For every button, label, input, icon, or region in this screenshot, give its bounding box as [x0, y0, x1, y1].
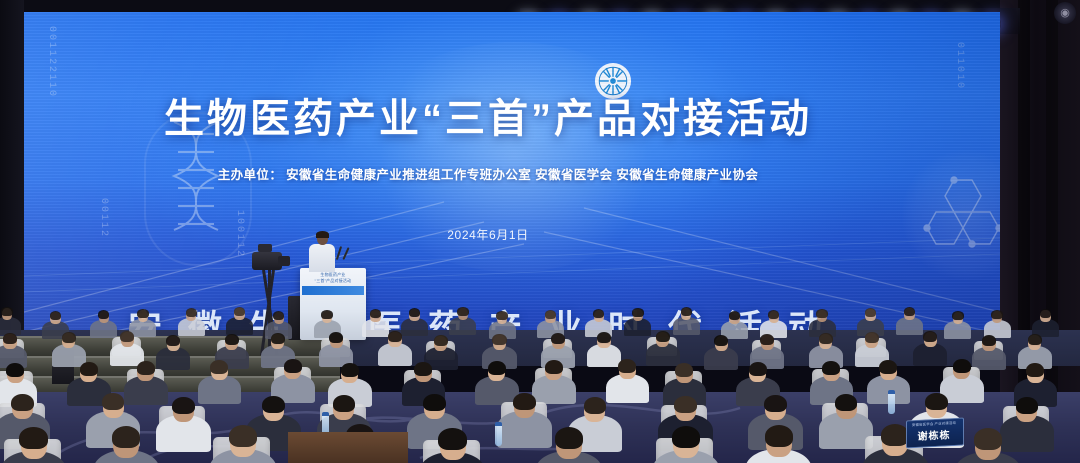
audience-member-hair: [982, 335, 996, 346]
speaker-hair: [316, 231, 329, 238]
audience-member-hair: [729, 311, 740, 320]
audience-member-hair: [551, 333, 565, 344]
audience-member-hair: [513, 393, 536, 411]
audience-member-hair: [545, 310, 556, 319]
audience-member-hair: [6, 363, 24, 377]
audience-member-hair: [991, 310, 1002, 319]
audience-member-hair: [593, 309, 604, 318]
water-bottle: [888, 392, 895, 414]
audience-member-hair: [765, 425, 793, 447]
audience-member-hair: [284, 359, 302, 373]
corner-watermark-icon: ◉: [1054, 2, 1076, 24]
video-camera-hood: [258, 244, 272, 252]
audience-member-hair: [62, 332, 76, 343]
audience-member-hair: [370, 309, 381, 318]
audience-member-hair: [749, 362, 767, 376]
audience-member-hair: [488, 361, 506, 375]
podium-sign-line-2: “三首”产品对接活动: [304, 278, 362, 283]
audience-member-hair: [764, 395, 787, 413]
audience-member-hair: [80, 362, 98, 376]
audience-member-hair: [675, 363, 693, 377]
audience-member-hair: [457, 307, 468, 316]
audience-member-hair: [329, 332, 343, 343]
speaker-torso: [309, 244, 335, 272]
water-bottle-cap: [322, 412, 329, 416]
audience-table: [288, 432, 408, 463]
conference-photo: ◉: [0, 0, 1080, 463]
audience-member-hair: [904, 307, 915, 316]
audience-member-hair: [496, 311, 507, 320]
audience-member-hair: [98, 310, 109, 319]
audience-member-hair: [438, 428, 466, 450]
podium-accent-band: [302, 286, 364, 295]
event-date: 2024年6月1日: [24, 226, 952, 243]
audience-member-hair: [1040, 309, 1051, 318]
audience-member-hair: [816, 309, 827, 318]
audience-member-hair: [172, 397, 195, 415]
audience-member-hair: [822, 361, 840, 375]
audience-member-hair: [492, 334, 506, 345]
audience-member-hair: [1028, 334, 1042, 345]
audience-member-hair: [865, 332, 879, 343]
audience-member-hair: [225, 334, 239, 345]
audience-member-hair: [879, 360, 897, 374]
page-title: 生物医药产业“三首”产品对接活动: [24, 86, 952, 144]
audience-member-hair: [760, 334, 774, 345]
audience-member-hair: [974, 428, 1002, 450]
audience-member-hair: [333, 395, 356, 413]
audience-member-hair: [597, 332, 611, 343]
audience-member-hair: [102, 393, 125, 411]
audience-member-hair: [681, 307, 692, 316]
audience-member-hair: [262, 396, 285, 414]
audience-member-hair: [423, 394, 446, 412]
placard-name: 谢栋栋: [906, 426, 962, 444]
audience-member-hair: [434, 335, 448, 346]
audience-member-hair: [835, 394, 858, 412]
audience-member-hair: [271, 333, 285, 344]
audience-member-hair: [925, 393, 948, 411]
video-camera-lens: [278, 256, 290, 266]
audience-member-hair: [166, 335, 180, 346]
audience-member-hair: [923, 331, 937, 342]
audience-member-hair: [210, 360, 228, 374]
audience-member-hair: [234, 307, 245, 316]
audience-member-hair: [50, 311, 61, 320]
audience-member-hair: [321, 310, 332, 319]
audience-member-hair: [672, 426, 700, 448]
water-bottle-cap: [495, 422, 502, 426]
audience-member-hair: [137, 309, 148, 318]
audience-member-hair: [952, 311, 963, 320]
audience-member-hair: [1026, 363, 1044, 377]
audience-member-hair: [819, 333, 833, 344]
audience-member-hair: [656, 331, 670, 342]
audience-member-hair: [953, 359, 971, 373]
audience-member-hair: [674, 396, 697, 414]
audience-member-hair: [186, 308, 197, 317]
audience-member-hair: [409, 308, 420, 317]
audience-member-hair: [414, 362, 432, 376]
audience-member-hair: [11, 394, 34, 412]
audience-member-hair: [768, 310, 779, 319]
audience-member-hair: [618, 359, 636, 373]
water-bottle-cap: [888, 390, 895, 394]
audience-member-hair: [1, 307, 12, 316]
audience-member-hair: [584, 397, 607, 415]
water-bottle: [495, 424, 502, 446]
podium-sign-line-1: 生物医药产业: [304, 272, 362, 277]
audience-member-hair: [120, 331, 134, 342]
audience-member-hair: [112, 426, 140, 448]
audience-member-hair: [1016, 397, 1039, 415]
audience-member-hair: [388, 331, 402, 342]
audience-member-hair: [229, 425, 257, 447]
organizers-line: 主办单位： 安徽省生命健康产业推进组工作专班办公室 安徽省医学会 安徽省生命健康…: [24, 164, 952, 183]
audience-member-hair: [632, 308, 643, 317]
audience-member-hair: [865, 308, 876, 317]
audience-member-hair: [545, 360, 563, 374]
audience-member-hair: [555, 427, 583, 449]
audience-member-hair: [341, 363, 359, 377]
audience-member-hair: [19, 427, 47, 449]
audience-member-hair: [273, 311, 284, 320]
audience-member-hair: [3, 333, 17, 344]
audience-member-hair: [714, 335, 728, 346]
audience-member-hair: [137, 361, 155, 375]
